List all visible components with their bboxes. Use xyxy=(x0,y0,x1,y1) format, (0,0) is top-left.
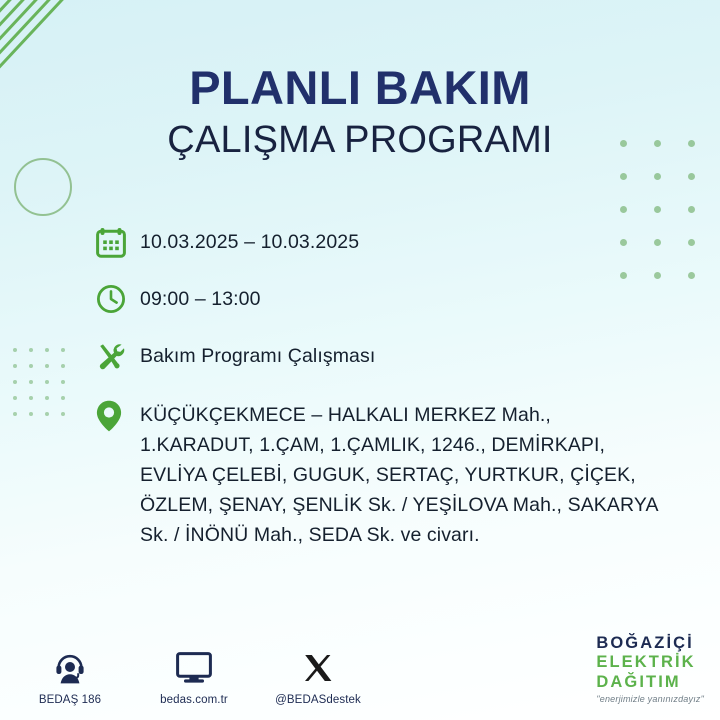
info-row-work-type: Bakım Programı Çalışması xyxy=(96,340,708,381)
grid-dot xyxy=(45,412,49,416)
info-list: 10.03.2025 – 10.03.2025 09:00 – 13:00 Ba… xyxy=(96,226,708,550)
tools-icon xyxy=(96,340,140,381)
contact-x-label: @BEDASdestek xyxy=(274,694,362,706)
grid-dot xyxy=(45,380,49,384)
social-links: BEDAŞ 186 bedas.com.tr xyxy=(26,648,362,706)
work-type-text: Bakım Programı Çalışması xyxy=(140,340,708,370)
grid-dot xyxy=(61,364,65,368)
info-row-date: 10.03.2025 – 10.03.2025 xyxy=(96,226,708,267)
title-block: PLANLI BAKIM ÇALIŞMA PROGRAMI xyxy=(0,64,720,161)
location-line: KÜÇÜKÇEKMECE – HALKALI MERKEZ Mah., xyxy=(140,400,708,430)
info-row-time: 09:00 – 13:00 xyxy=(96,283,708,324)
grid-dot xyxy=(654,206,661,213)
grid-dot xyxy=(13,396,17,400)
grid-dot xyxy=(29,412,33,416)
location-text: KÜÇÜKÇEKMECE – HALKALI MERKEZ Mah.,1.KAR… xyxy=(140,397,708,550)
location-line: EVLİYA ÇELEBİ, GUGUK, SERTAÇ, YURTKUR, Ç… xyxy=(140,460,708,490)
location-line: 1.KARADUT, 1.ÇAM, 1.ÇAMLIK, 1246., DEMİR… xyxy=(140,430,708,460)
grid-dot xyxy=(29,380,33,384)
grid-dot xyxy=(13,412,17,416)
grid-dot xyxy=(61,412,65,416)
grid-dot xyxy=(13,380,17,384)
brand-line-1: BOĞAZİÇİ xyxy=(596,635,704,652)
calendar-icon xyxy=(96,226,140,267)
grid-dot xyxy=(61,348,65,352)
page-title: PLANLI BAKIM xyxy=(0,64,720,112)
x-twitter-icon xyxy=(274,648,362,688)
grid-dot xyxy=(620,206,627,213)
grid-dot xyxy=(13,348,17,352)
time-range-text: 09:00 – 13:00 xyxy=(140,283,708,313)
grid-dot xyxy=(13,364,17,368)
location-line: ÖZLEM, ŞENAY, ŞENLİK Sk. / YEŞİLOVA Mah.… xyxy=(140,490,708,520)
grid-dot xyxy=(29,348,33,352)
poster-canvas: PLANLI BAKIM ÇALIŞMA PROGRAMI 10.03.2025… xyxy=(0,0,720,720)
grid-dot xyxy=(45,364,49,368)
grid-dot xyxy=(61,380,65,384)
grid-dot xyxy=(654,173,661,180)
map-pin-icon xyxy=(96,397,140,440)
contact-x-twitter[interactable]: @BEDASdestek xyxy=(274,648,362,706)
grid-dot xyxy=(61,396,65,400)
monitor-icon xyxy=(150,648,238,688)
grid-dot xyxy=(688,173,695,180)
company-logo: BOĞAZİÇİ ELEKTRİK DAĞITIM "enerjimizle y… xyxy=(596,635,704,705)
clock-icon xyxy=(96,283,140,324)
brand-line-2: ELEKTRİK xyxy=(596,654,704,671)
grid-dot xyxy=(45,348,49,352)
footer: BEDAŞ 186 bedas.com.tr xyxy=(0,612,720,720)
grid-dot xyxy=(688,206,695,213)
grid-dot xyxy=(29,396,33,400)
page-subtitle: ÇALIŞMA PROGRAMI xyxy=(0,121,720,161)
date-range-text: 10.03.2025 – 10.03.2025 xyxy=(140,226,708,256)
location-line: Sk. / İNÖNÜ Mah., SEDA Sk. ve civarı. xyxy=(140,520,708,550)
brand-line-3: DAĞITIM xyxy=(596,674,704,691)
grid-dot xyxy=(29,364,33,368)
grid-dot xyxy=(45,396,49,400)
contact-phone[interactable]: BEDAŞ 186 xyxy=(26,648,114,706)
contact-website[interactable]: bedas.com.tr xyxy=(150,648,238,706)
dot-grid-left-decoration xyxy=(13,348,77,428)
contact-phone-label: BEDAŞ 186 xyxy=(26,694,114,706)
info-row-location: KÜÇÜKÇEKMECE – HALKALI MERKEZ Mah.,1.KAR… xyxy=(96,397,708,550)
grid-dot xyxy=(620,173,627,180)
contact-website-label: bedas.com.tr xyxy=(150,694,238,706)
brand-tagline: "enerjimizle yanınızdayız" xyxy=(596,695,704,704)
headset-icon xyxy=(26,648,114,688)
circle-outline-decoration xyxy=(14,158,72,216)
